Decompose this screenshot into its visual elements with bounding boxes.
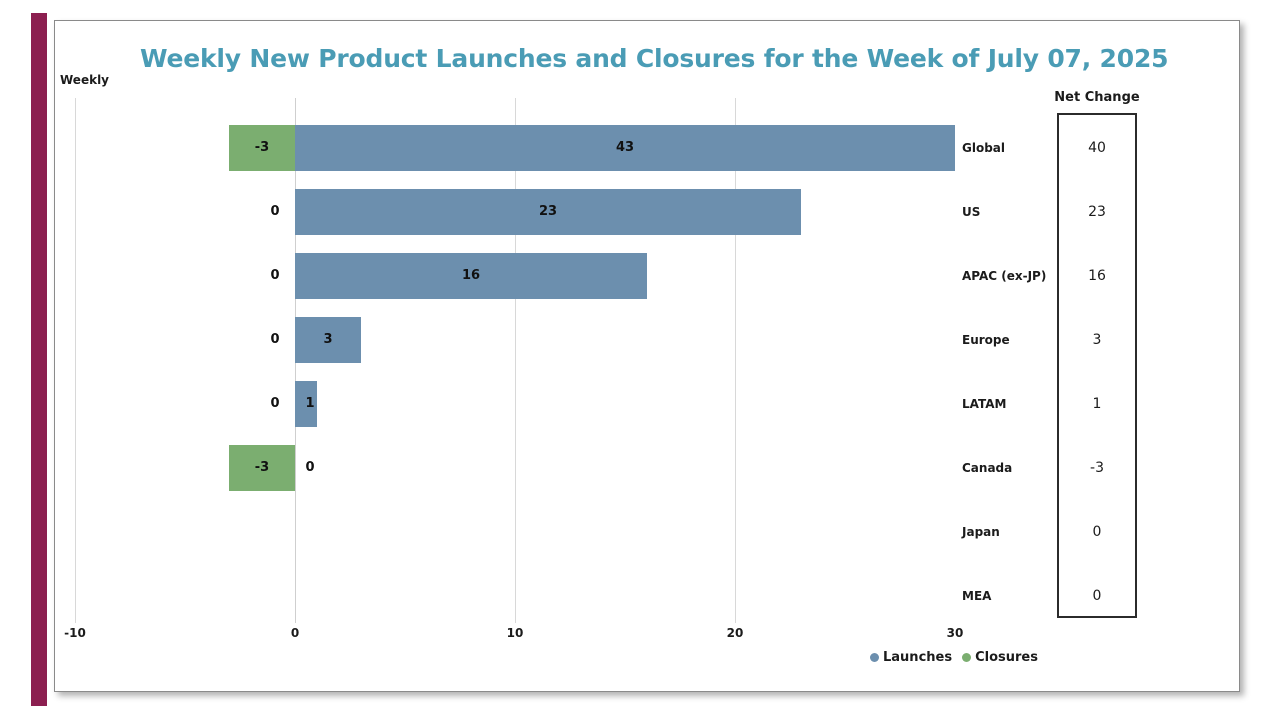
- net-change-value: 1: [1057, 381, 1137, 427]
- chart-legend: LaunchesClosures: [870, 650, 1038, 665]
- bar-value-closures: 0: [255, 317, 295, 363]
- slide-root: Weekly New Product Launches and Closures…: [0, 0, 1280, 720]
- bar-value-closures: 0: [255, 189, 295, 235]
- legend-item[interactable]: Closures: [962, 650, 1038, 665]
- legend-item[interactable]: Launches: [870, 650, 952, 665]
- category-label: MEA: [962, 573, 991, 619]
- bar-value-launches: 23: [295, 189, 801, 235]
- net-change-value: -3: [1057, 445, 1137, 491]
- bar-value-closures: 0: [255, 381, 295, 427]
- bar-value-launches: 0: [295, 445, 325, 491]
- gridline--10: [75, 98, 76, 623]
- category-label: APAC (ex-JP): [962, 253, 1046, 299]
- net-change-value: 0: [1057, 573, 1137, 619]
- category-label: US: [962, 189, 980, 235]
- gridline-10: [515, 98, 516, 623]
- net-change-value: 23: [1057, 189, 1137, 235]
- x-tick-label: 10: [507, 626, 524, 640]
- net-change-title: Net Change: [1054, 90, 1139, 105]
- legend-label: Closures: [975, 650, 1038, 665]
- x-tick-label: -10: [64, 626, 86, 640]
- bar-value-closures: 0: [255, 253, 295, 299]
- legend-swatch-icon: [962, 653, 971, 662]
- category-label: Europe: [962, 317, 1010, 363]
- plot-area: -3430230160301-30: [75, 98, 955, 623]
- bar-value-launches: 1: [295, 381, 325, 427]
- left-accent-stripe: [31, 13, 47, 706]
- category-label: LATAM: [962, 381, 1006, 427]
- axis-corner-label: Weekly: [60, 73, 109, 87]
- gridline-20: [735, 98, 736, 623]
- legend-swatch-icon: [870, 653, 879, 662]
- legend-label: Launches: [883, 650, 952, 665]
- x-tick-label: 30: [947, 626, 964, 640]
- net-change-value: 16: [1057, 253, 1137, 299]
- x-tick-label: 0: [291, 626, 299, 640]
- x-tick-label: 20: [727, 626, 744, 640]
- bar-value-closures: -3: [229, 125, 295, 171]
- category-label: Japan: [962, 509, 1000, 555]
- category-label: Canada: [962, 445, 1012, 491]
- category-label: Global: [962, 125, 1005, 171]
- bar-value-closures: -3: [229, 445, 295, 491]
- chart-title: Weekly New Product Launches and Closures…: [140, 44, 1168, 73]
- bar-value-launches: 3: [295, 317, 361, 363]
- bar-value-launches: 43: [295, 125, 955, 171]
- net-change-value: 40: [1057, 125, 1137, 171]
- net-change-value: 3: [1057, 317, 1137, 363]
- net-change-value: 0: [1057, 509, 1137, 555]
- bar-value-launches: 16: [295, 253, 647, 299]
